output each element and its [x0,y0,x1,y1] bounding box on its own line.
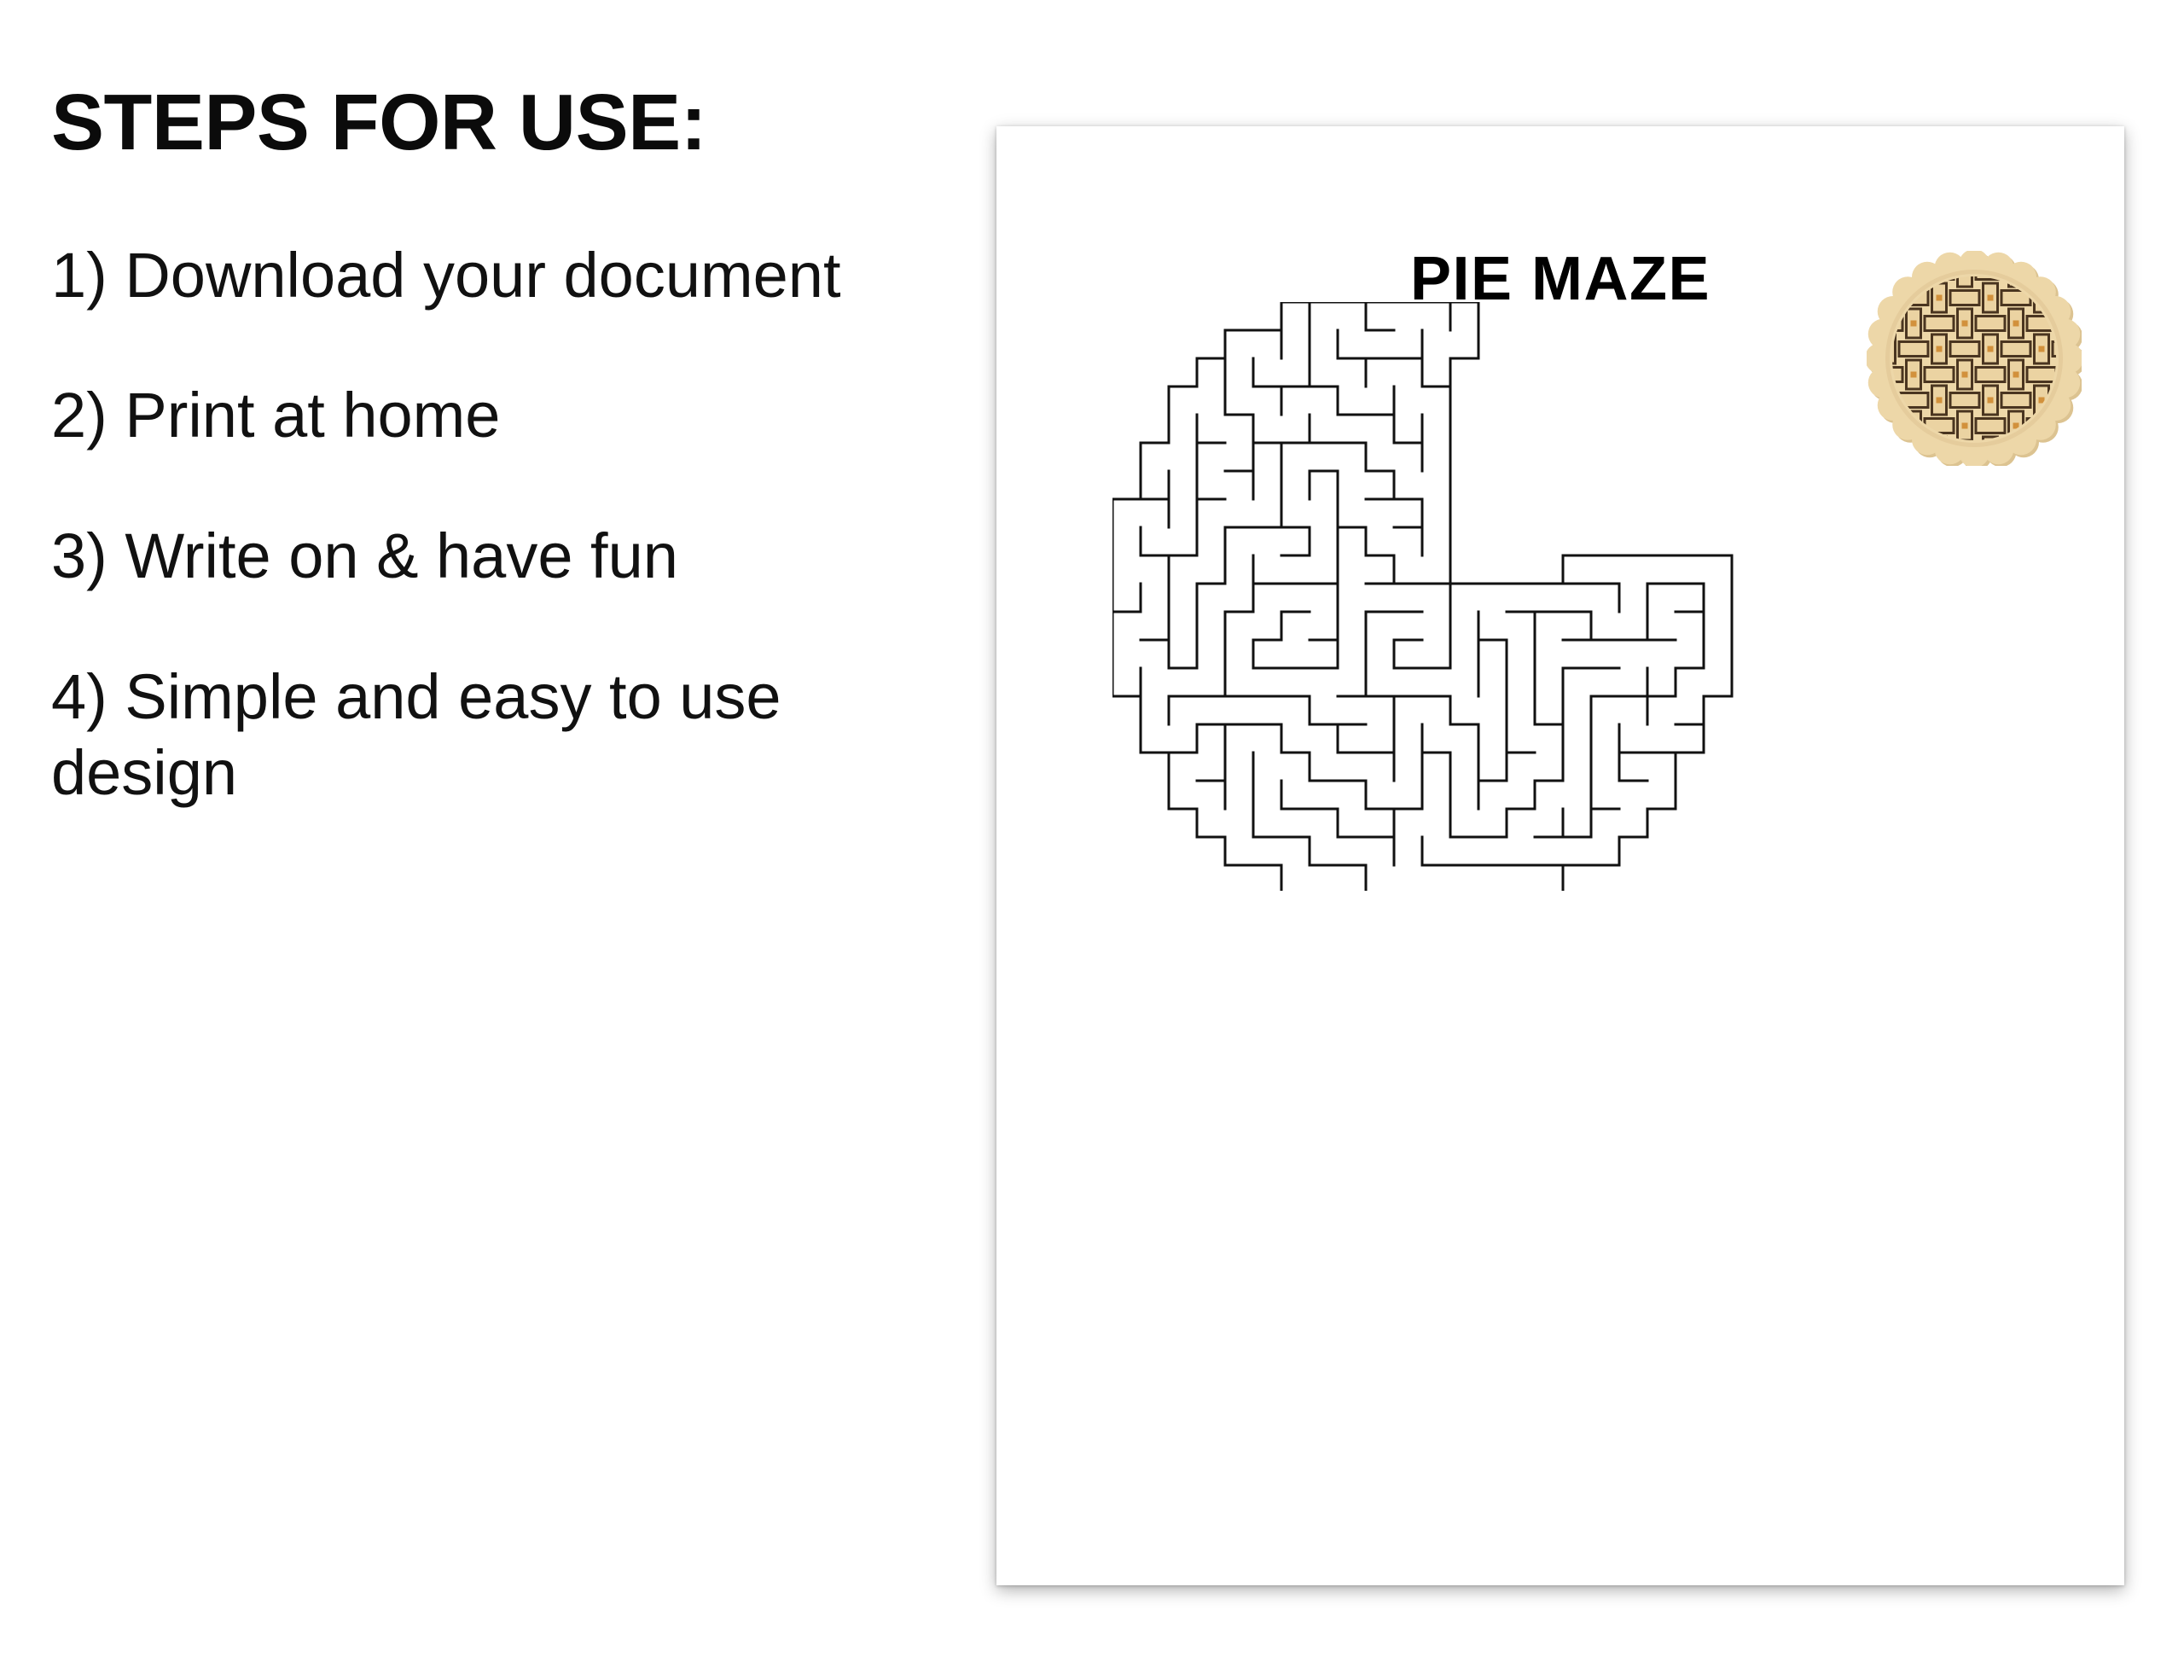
list-item: 2) Print at home [51,378,845,454]
worksheet-preview-card[interactable]: PIE MAZE [996,126,2124,1585]
instructions-panel: STEPS FOR USE: 1) Download your document… [0,0,964,1680]
lattice-pie-icon [1867,251,2082,466]
pie-maze-graphic [1112,302,1744,891]
steps-list: 1) Download your document 2) Print at ho… [51,238,930,811]
list-item: 3) Write on & have fun [51,519,845,595]
page-title: STEPS FOR USE: [51,81,930,165]
list-item: 4) Simple and easy to use design [51,660,845,811]
list-item: 1) Download your document [51,238,845,314]
